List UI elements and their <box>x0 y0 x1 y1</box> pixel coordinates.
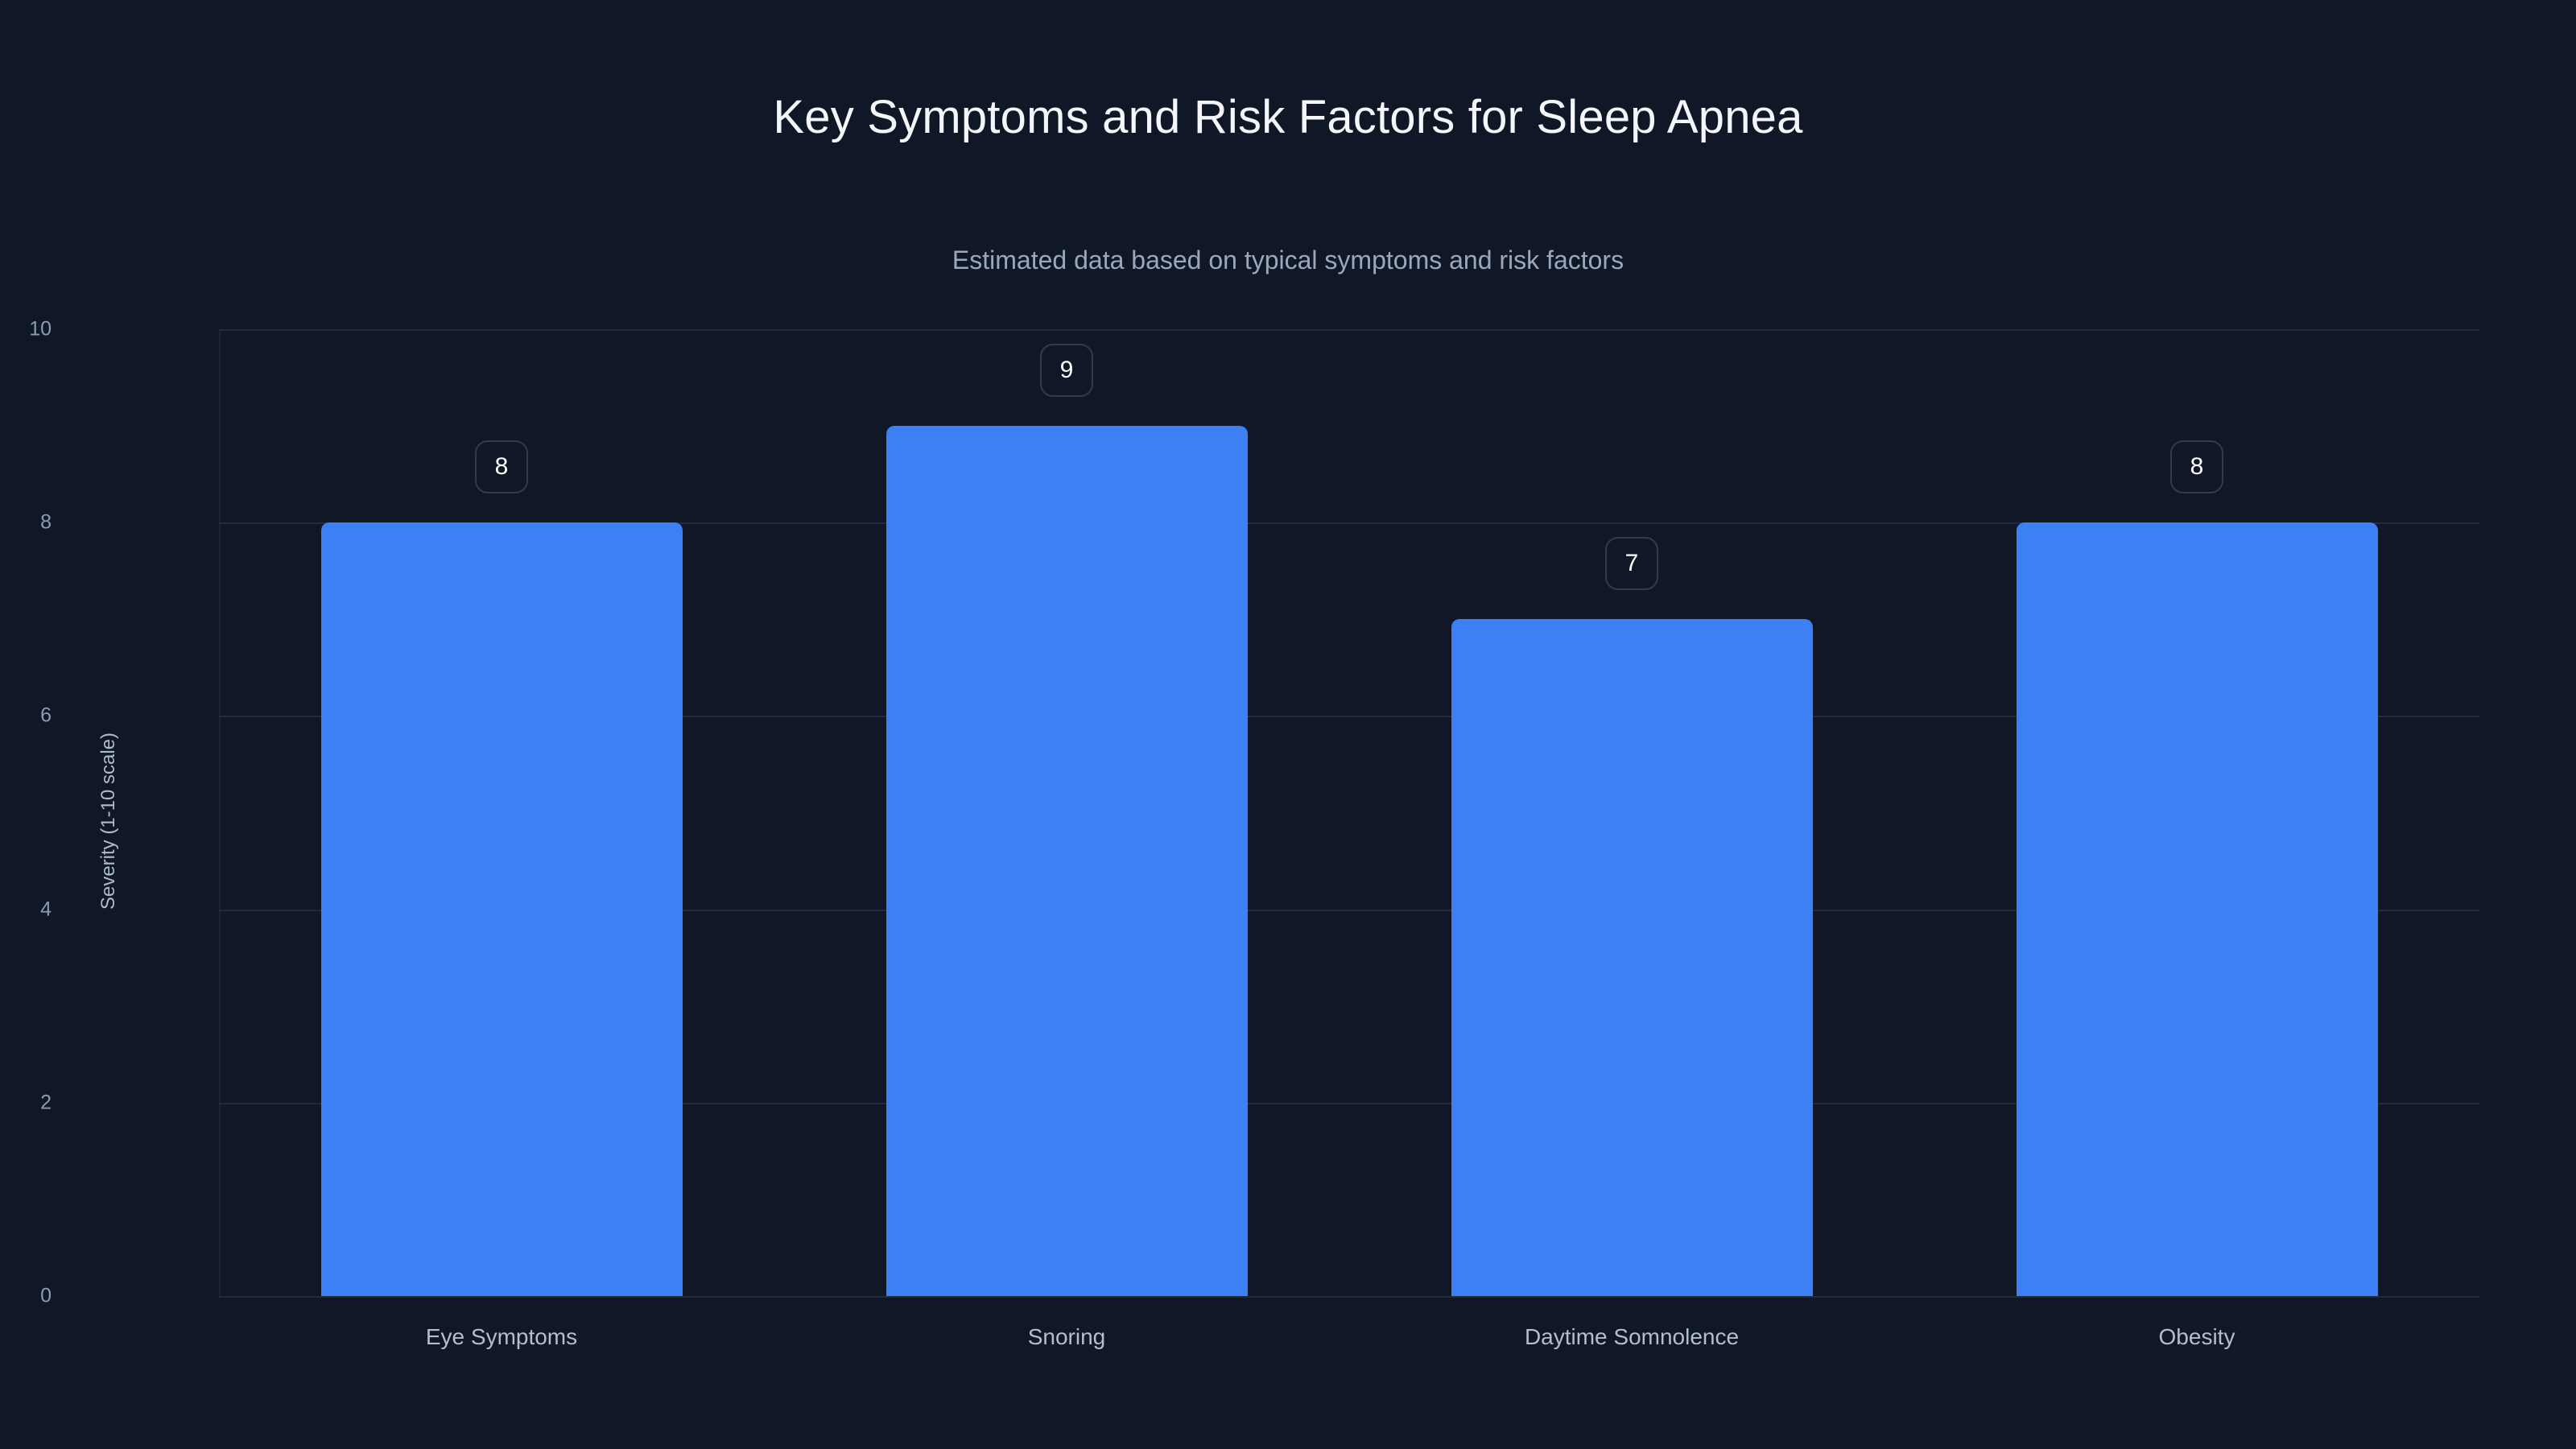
bar[interactable] <box>2017 522 2378 1296</box>
bar-value-badge: 9 <box>1040 344 1093 397</box>
bar-series: 8978 <box>219 329 2479 1296</box>
bar-slot: 9 <box>784 329 1349 1296</box>
y-axis-tick-label: 0 <box>0 1285 52 1308</box>
y-axis-tick-label: 4 <box>0 898 52 921</box>
x-axis-category-label: Obesity <box>1914 1324 2479 1350</box>
bar-slot: 7 <box>1349 329 1914 1296</box>
bar[interactable] <box>1451 619 1813 1296</box>
x-axis-category-label: Eye Symptoms <box>219 1324 784 1350</box>
bar[interactable] <box>886 426 1248 1296</box>
y-axis-tick-label: 6 <box>0 704 52 728</box>
chart-canvas: Key Symptoms and Risk Factors for Sleep … <box>0 0 2576 1449</box>
chart-subtitle: Estimated data based on typical symptoms… <box>0 246 2576 275</box>
gridline <box>219 1296 2479 1298</box>
y-axis-title: Severity (1-10 scale) <box>97 733 120 910</box>
x-axis-category-label: Daytime Somnolence <box>1349 1324 1914 1350</box>
y-axis-tick-label: 8 <box>0 511 52 535</box>
page-title: Key Symptoms and Risk Factors for Sleep … <box>0 90 2576 144</box>
x-axis-categories: Eye SymptomsSnoringDaytime SomnolenceObe… <box>219 1324 2479 1350</box>
bar[interactable] <box>321 522 683 1296</box>
x-axis-category-label: Snoring <box>784 1324 1349 1350</box>
bar-slot: 8 <box>1914 329 2479 1296</box>
y-axis-tick-label: 2 <box>0 1091 52 1114</box>
y-axis-tick-label: 10 <box>0 318 52 341</box>
bar-value-badge: 8 <box>475 440 528 493</box>
bar-value-badge: 8 <box>2170 440 2223 493</box>
plot-area: 1086420 8978 <box>219 329 2479 1296</box>
bar-value-badge: 7 <box>1605 537 1658 590</box>
bar-slot: 8 <box>219 329 784 1296</box>
